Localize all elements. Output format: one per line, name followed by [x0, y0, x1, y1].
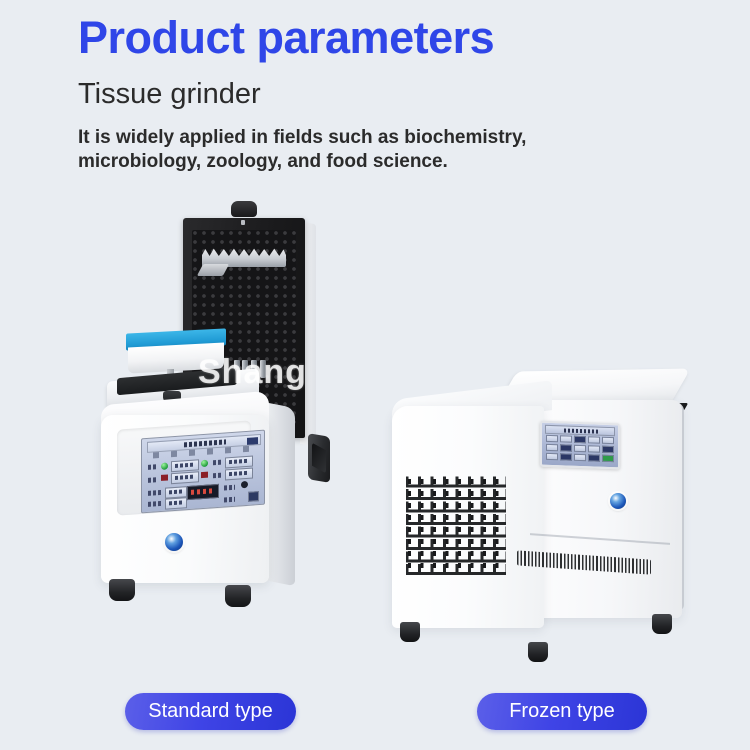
- frozen-lcd-cell: [560, 444, 572, 451]
- product-subtitle: Tissue grinder: [78, 78, 261, 111]
- lcd-field-3: [171, 471, 199, 484]
- frozen-foot-left: [400, 622, 420, 642]
- frozen-lcd-cell: [588, 436, 600, 443]
- label-standard-type[interactable]: Standard type: [125, 693, 296, 730]
- frozen-lcd-row-2: [546, 444, 614, 453]
- lcd-label-6: [148, 501, 162, 507]
- frozen-blue-knob: [610, 493, 626, 509]
- lcd-field-2: [225, 456, 253, 469]
- page-title: Product parameters: [78, 12, 494, 64]
- lcd-field-4: [225, 468, 253, 481]
- frozen-foot-right: [652, 614, 672, 634]
- lcd-status-dot: [241, 481, 248, 488]
- lcd-label-1: [148, 464, 158, 470]
- product-image-standard: [95, 193, 355, 673]
- lid-handle-knob: [231, 201, 257, 217]
- frozen-lcd-cell: [546, 453, 558, 460]
- frozen-ventilation-grille-overlay: [406, 475, 506, 575]
- lid-screw: [241, 220, 245, 225]
- frozen-lcd-cell: [574, 436, 586, 443]
- machine-foot-right: [225, 585, 251, 607]
- product-description: It is widely applied in fields such as b…: [78, 126, 638, 174]
- lcd-label-3: [148, 477, 158, 483]
- platform-base: [128, 342, 224, 373]
- frozen-lcd-cell: [588, 445, 600, 452]
- standard-blue-knob: [165, 533, 183, 551]
- standard-lcd-panel: [141, 430, 265, 514]
- frozen-lcd-cell: [560, 435, 572, 442]
- frozen-lcd-row-3: [546, 453, 614, 462]
- machine-foot-left: [109, 579, 135, 601]
- lcd-indicator-red-1: [161, 474, 168, 480]
- frozen-foot-front: [528, 642, 548, 662]
- description-line-2: microbiology, zoology, and food science.: [78, 150, 638, 174]
- lcd-action-button: [248, 491, 259, 502]
- product-image-stage: Shang: [0, 180, 750, 680]
- lcd-indicator-green-2: [201, 460, 208, 467]
- frozen-lcd-cell: [602, 437, 614, 444]
- frozen-lcd-cell: [574, 454, 586, 461]
- lcd-label-4: [213, 473, 222, 479]
- frozen-lcd-cell: [602, 446, 614, 453]
- lcd-indicator-red-2: [201, 472, 208, 478]
- side-carry-handle: [308, 433, 330, 483]
- product-image-frozen: [380, 370, 710, 670]
- lcd-field-1: [171, 459, 199, 472]
- lcd-field-6: [165, 497, 187, 510]
- lcd-label-5: [148, 490, 162, 496]
- lcd-label-8: [224, 497, 235, 503]
- label-frozen-type[interactable]: Frozen type: [477, 693, 647, 730]
- description-line-1: It is widely applied in fields such as b…: [78, 126, 638, 150]
- lcd-badge: [247, 437, 258, 445]
- lcd-digital-readout: [187, 484, 219, 500]
- frozen-lcd-row-1: [546, 435, 614, 444]
- frozen-lcd-cell: [588, 454, 600, 461]
- frozen-lcd-cell: [602, 455, 614, 462]
- lcd-label-7: [224, 485, 235, 491]
- lcd-indicator-green-1: [161, 462, 168, 469]
- lcd-label-2: [213, 460, 222, 466]
- frozen-lcd-cell: [546, 435, 558, 442]
- frozen-lcd-cell: [546, 444, 558, 451]
- frozen-lcd-cell: [560, 453, 572, 460]
- frozen-lcd-touchscreen[interactable]: [540, 421, 620, 470]
- frozen-lcd-cell: [574, 445, 586, 452]
